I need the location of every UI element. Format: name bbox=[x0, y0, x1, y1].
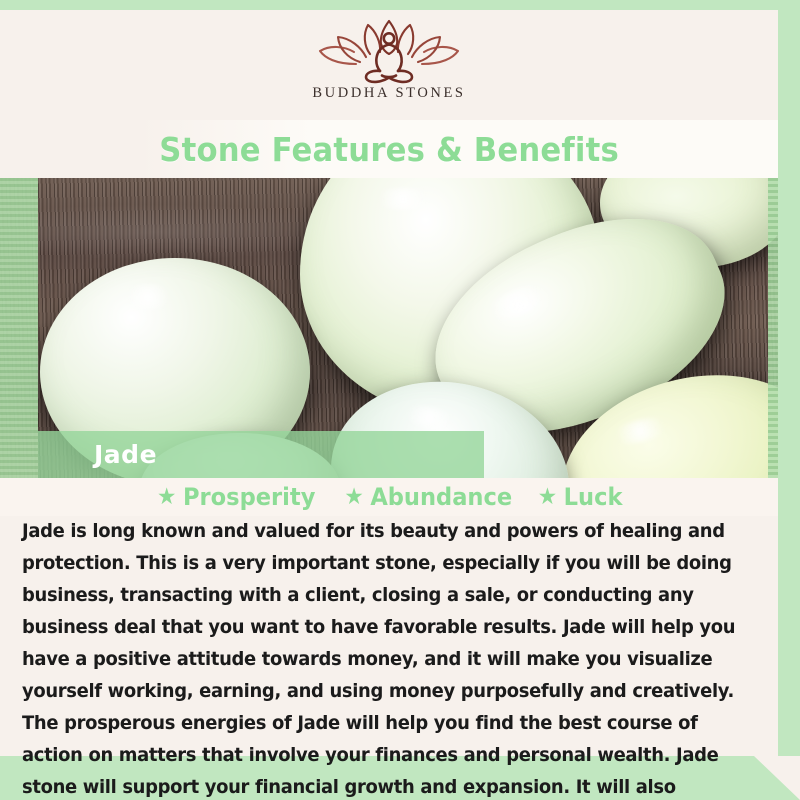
stone-description: Jade is long known and valued for its be… bbox=[22, 516, 752, 800]
lotus-meditation-icon bbox=[314, 18, 464, 84]
poster-card: BUDDHA STONES Stone Features & Benefits … bbox=[0, 10, 778, 756]
benefit-luck: ★ Luck bbox=[538, 483, 623, 511]
page-title: Stone Features & Benefits bbox=[159, 130, 619, 169]
photo-left-green-strip bbox=[0, 178, 38, 478]
star-icon: ★ bbox=[157, 486, 176, 509]
photo-right-green-strip bbox=[768, 178, 778, 478]
stone-info-poster: BUDDHA STONES Stone Features & Benefits … bbox=[0, 0, 800, 800]
benefit-prosperity: ★ Prosperity bbox=[157, 483, 315, 511]
stone-name-plate: Jade bbox=[38, 431, 484, 478]
brand-name: BUDDHA STONES bbox=[312, 85, 465, 102]
benefit-label: Abundance bbox=[370, 483, 512, 511]
brand-header: BUDDHA STONES bbox=[0, 10, 778, 120]
benefit-label: Prosperity bbox=[183, 483, 315, 511]
frame-top-green-band bbox=[0, 0, 800, 10]
stone-photo: Jade bbox=[0, 178, 778, 478]
stone-name: Jade bbox=[94, 440, 157, 469]
title-banner: Stone Features & Benefits bbox=[0, 120, 778, 178]
benefit-abundance: ★ Abundance bbox=[344, 483, 512, 511]
star-icon: ★ bbox=[538, 486, 557, 509]
star-icon: ★ bbox=[344, 486, 363, 509]
benefits-row: ★ Prosperity ★ Abundance ★ Luck bbox=[0, 478, 778, 516]
frame-right-green-band bbox=[778, 0, 800, 800]
benefit-label: Luck bbox=[564, 483, 623, 511]
